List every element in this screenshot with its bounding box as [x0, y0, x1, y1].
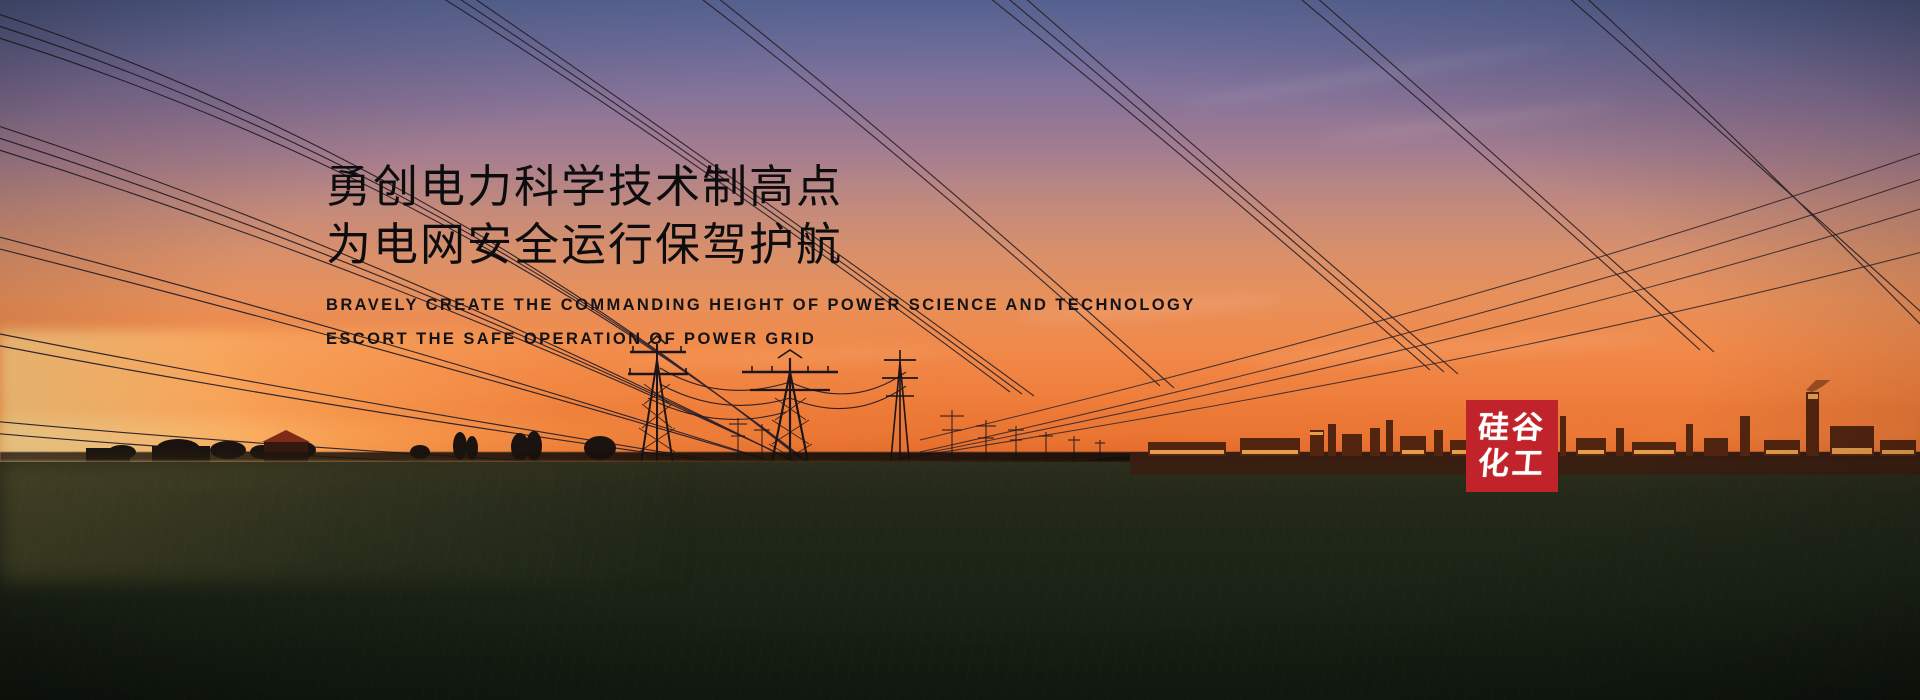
banner-copy: 勇创电力科学技术制高点 为电网安全运行保驾护航 BRAVELY CREATE T…: [326, 158, 1226, 356]
subtitle-line-1: BRAVELY CREATE THE COMMANDING HEIGHT OF …: [326, 288, 1226, 322]
field-sunlight-sheen: [0, 462, 1000, 582]
headline-line-2: 为电网安全运行保驾护航: [326, 216, 1226, 274]
subtitle-line-2: ESCORT THE SAFE OPERATION OF POWER GRID: [326, 322, 1226, 356]
hero-banner: 勇创电力科学技术制高点 为电网安全运行保驾护航 BRAVELY CREATE T…: [0, 0, 1920, 700]
logo-text-line-1: 硅谷: [1476, 410, 1547, 446]
headline-line-1: 勇创电力科学技术制高点: [326, 158, 1226, 216]
company-logo-stamp[interactable]: 硅谷 化工: [1466, 400, 1558, 492]
logo-text-line-2: 化工: [1476, 446, 1547, 482]
